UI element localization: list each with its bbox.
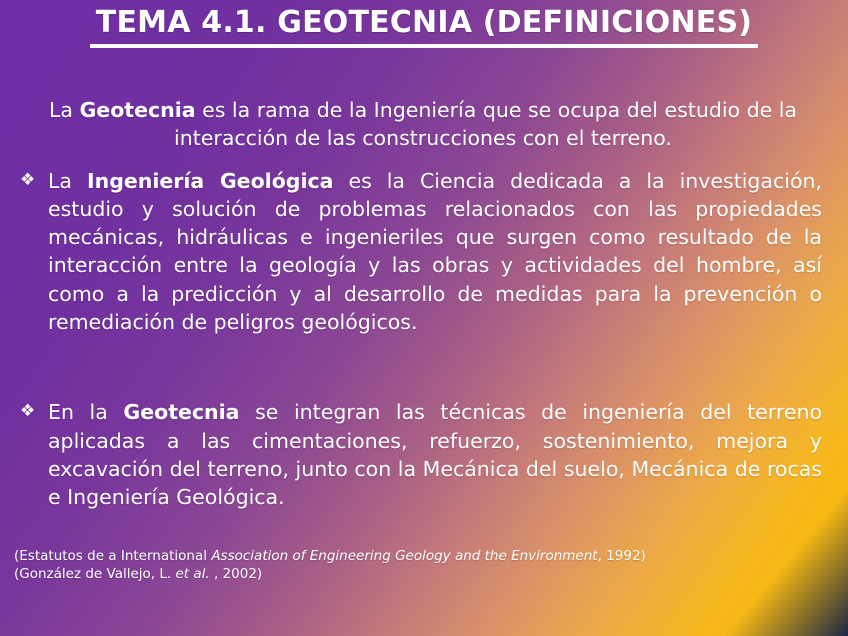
bullet-1-rest: es la Ciencia dedicada a la investigació… [48,169,822,334]
bullet-paragraph: ❖La Ingeniería Geológica es la Ciencia d… [18,167,822,337]
citation-2-italic: et al. [175,566,209,582]
diamond-bullet-icon: ❖ [20,399,42,425]
bullet-2-lead: En la [48,400,123,424]
citation-1-italic: Association of Engineering Geology and t… [211,548,597,564]
bullet-1-lead: La [48,169,87,193]
bullet-2-term: Geotecnia [123,400,239,424]
page-title: TEMA 4.1. GEOTECNIA (DEFINICIONES) [90,2,758,48]
intro-lead: La [49,98,80,122]
bullet-1-term: Ingeniería Geológica [87,169,334,193]
intro-paragraph: La Geotecnia es la rama de la Ingeniería… [20,96,826,155]
citation-2-start: (González de Vallejo, L. [14,566,175,582]
intro-term: Geotecnia [79,98,195,122]
diamond-bullet-icon: ❖ [20,168,42,194]
slide-canvas: TEMA 4.1. GEOTECNIA (DEFINICIONES) La Ge… [0,0,848,636]
citation-block: (Estatutos de a International Associatio… [14,547,834,584]
bullet-paragraph: ❖En la Geotecnia se integran las técnica… [18,398,822,511]
citation-line-1: (Estatutos de a International Associatio… [14,547,834,566]
slide-body: La Geotecnia es la rama de la Ingeniería… [0,96,848,511]
citation-1-end: , 1992) [598,548,646,564]
citation-1-start: (Estatutos de a International [14,548,211,564]
citation-2-end: , 2002) [210,566,263,582]
intro-rest: es la rama de la Ingeniería que se ocupa… [174,98,797,150]
citation-line-2: (González de Vallejo, L. et al. , 2002) [14,565,834,584]
slide-title-bar: TEMA 4.1. GEOTECNIA (DEFINICIONES) [0,2,848,48]
